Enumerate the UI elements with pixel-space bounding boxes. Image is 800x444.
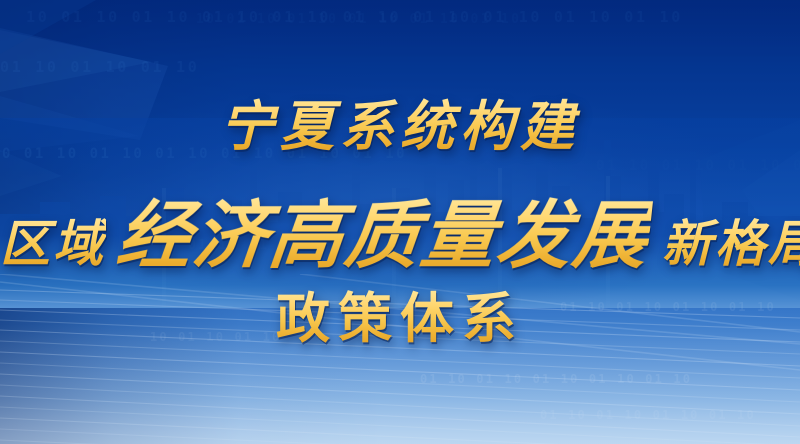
promo-banner: 10 01 10 01 10 01 10 01 10 01 10 01 10 0…	[0, 0, 800, 444]
headline-line-3: 政策体系	[0, 274, 800, 353]
headline-line-2-suffix: 新格局	[662, 204, 800, 276]
headline-block: 宁夏系统构建 区域经济高质量发展新格局 政策体系	[0, 0, 800, 444]
headline-line-1: 宁夏系统构建	[0, 82, 800, 161]
headline-line-2-prefix: 区域	[0, 204, 106, 276]
headline-line-2: 区域经济高质量发展新格局	[0, 176, 800, 283]
headline-line-2-emphasis: 经济高质量发展	[112, 176, 655, 283]
